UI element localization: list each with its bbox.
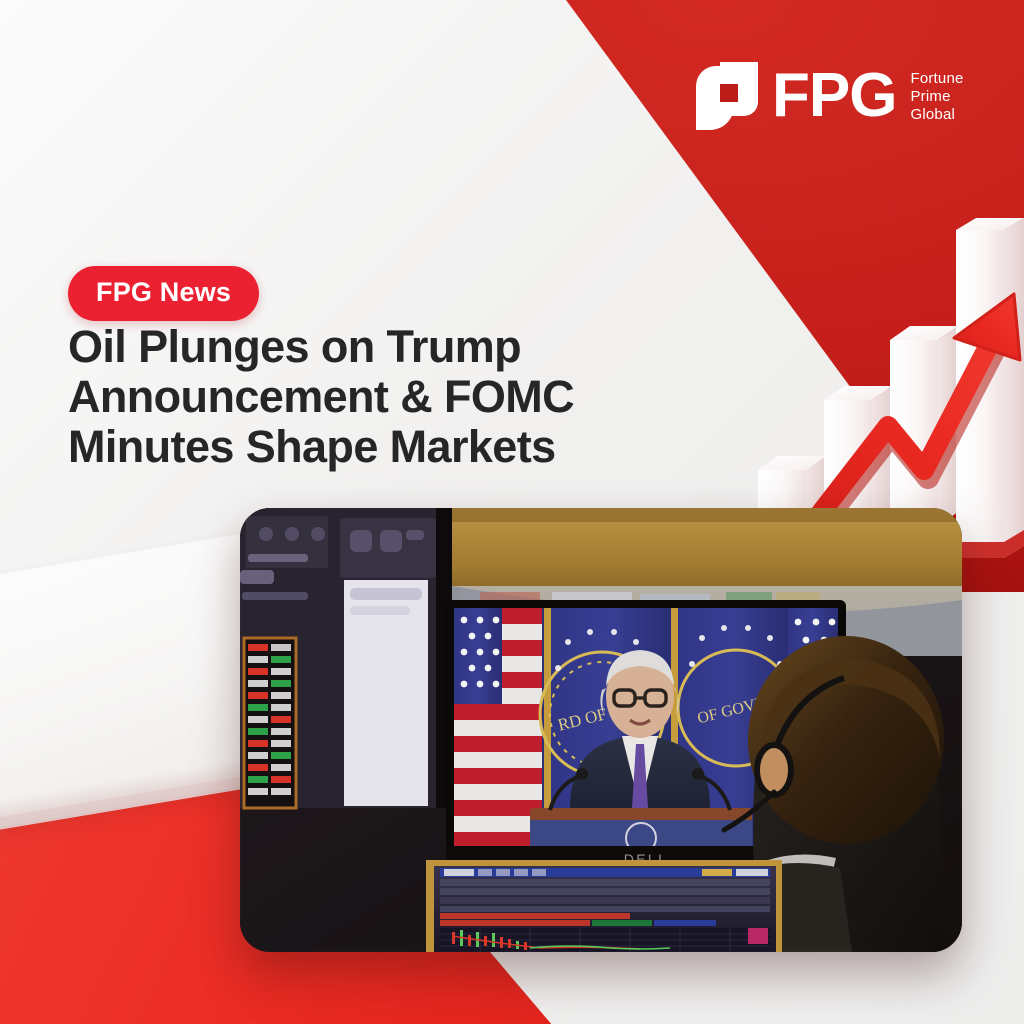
headline-line-3: Minutes Shape Markets bbox=[68, 422, 628, 472]
poster-canvas: FPG Fortune Prime Global FPG News Oil Pl… bbox=[0, 0, 1024, 1024]
logo-wordmark: FPG bbox=[772, 65, 896, 127]
logo-tagline-line-1: Fortune bbox=[910, 70, 963, 88]
brand-logo: FPG Fortune Prime Global bbox=[696, 62, 964, 130]
trading-floor-photo: RD OF GOV OF GOVER bbox=[240, 508, 962, 952]
fpg-logo-mark-icon bbox=[696, 62, 758, 130]
logo-tagline: Fortune Prime Global bbox=[910, 68, 963, 124]
logo-tagline-line-3: Global bbox=[910, 106, 963, 124]
news-badge: FPG News bbox=[68, 266, 259, 321]
headline-line-1: Oil Plunges on Trump bbox=[68, 322, 628, 372]
logo-tagline-line-2: Prime bbox=[910, 88, 963, 106]
headline: Oil Plunges on Trump Announcement & FOMC… bbox=[68, 322, 628, 472]
headline-line-2: Announcement & FOMC bbox=[68, 372, 628, 422]
